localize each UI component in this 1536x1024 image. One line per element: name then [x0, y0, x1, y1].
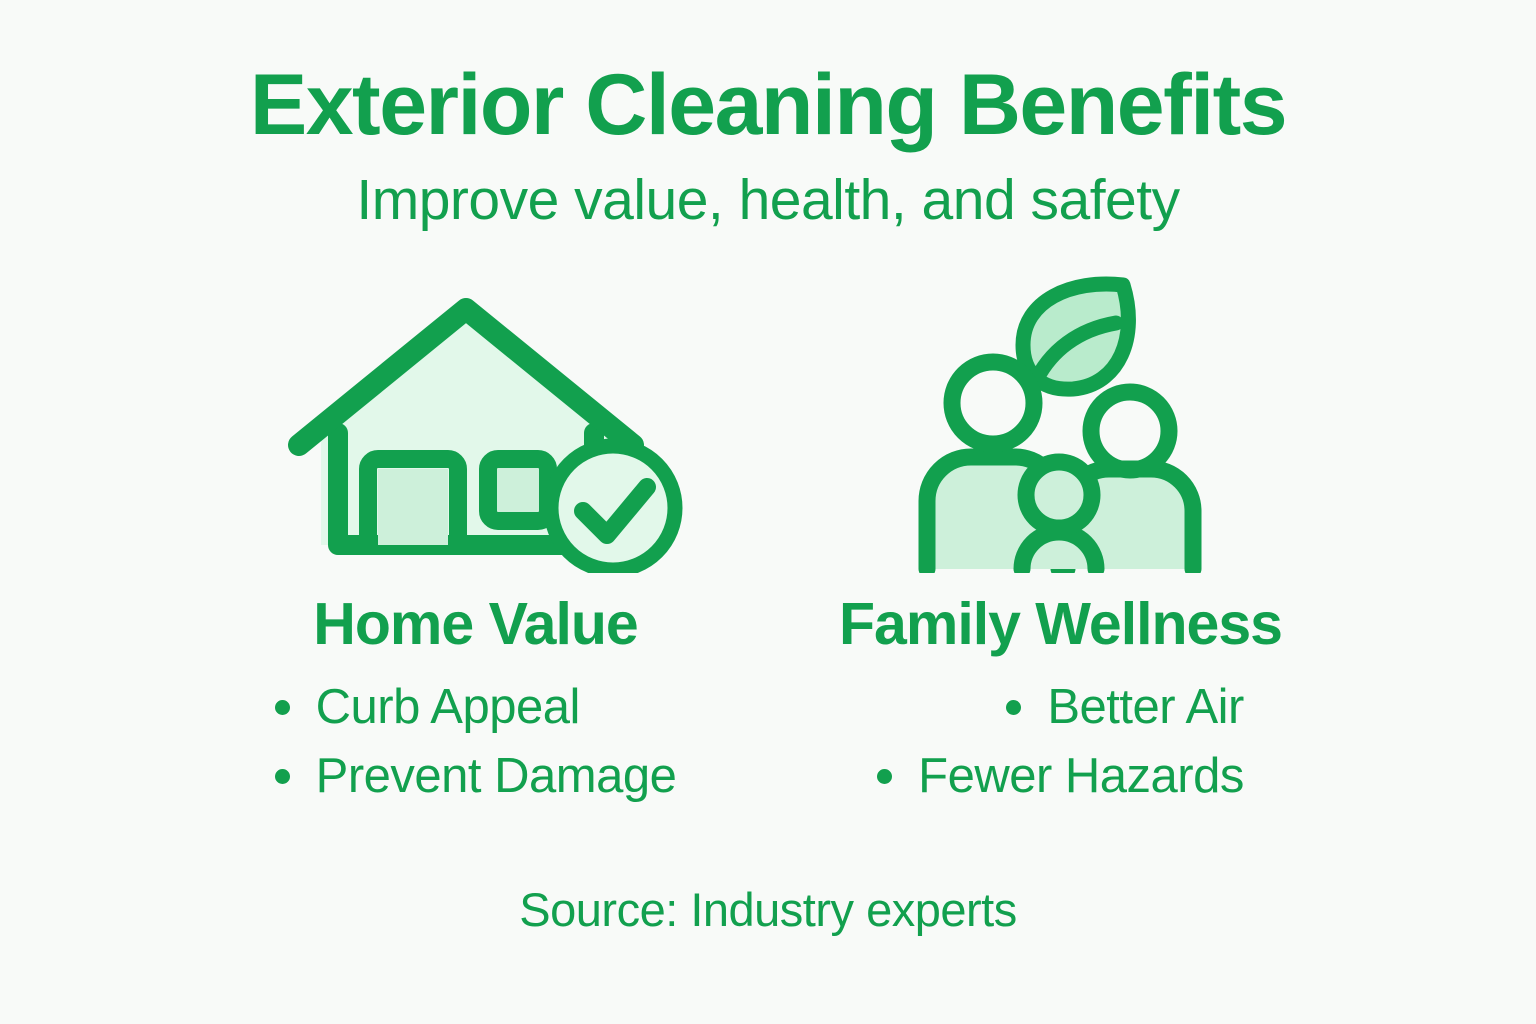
infographic-root: Exterior Cleaning Benefits Improve value… [0, 0, 1536, 1024]
bullet-dot-icon [1006, 700, 1021, 715]
list-item: Better Air [1006, 680, 1244, 735]
benefit-columns: Home Value Curb Appeal Prevent Damage [213, 273, 1323, 804]
bullet-dot-icon [275, 700, 290, 715]
list-item: Fewer Hazards [877, 749, 1244, 804]
bullet-dot-icon [877, 769, 892, 784]
benefit-list-home-value: Curb Appeal Prevent Damage [275, 680, 677, 804]
benefit-title-home-value: Home Value [313, 595, 637, 654]
list-item: Curb Appeal [275, 680, 580, 735]
house-check-icon-wrap [266, 273, 686, 573]
page-title: Exterior Cleaning Benefits [250, 62, 1286, 148]
family-leaf-icon-wrap [911, 273, 1211, 573]
list-item-label: Fewer Hazards [918, 749, 1244, 804]
benefit-list-family-wellness: Better Air Fewer Hazards [877, 680, 1244, 804]
list-item-label: Better Air [1047, 680, 1244, 735]
page-subtitle: Improve value, health, and safety [356, 172, 1179, 229]
bullet-dot-icon [275, 769, 290, 784]
list-item-label: Curb Appeal [316, 680, 580, 735]
benefit-title-family-wellness: Family Wellness [839, 595, 1282, 654]
benefit-column-home-value: Home Value Curb Appeal Prevent Damage [213, 273, 738, 804]
source-caption: Source: Industry experts [0, 882, 1536, 937]
house-check-icon [266, 273, 686, 573]
list-item: Prevent Damage [275, 749, 677, 804]
list-item-label: Prevent Damage [316, 749, 677, 804]
benefit-column-family-wellness: Family Wellness Better Air Fewer Hazards [798, 273, 1323, 804]
family-leaf-icon [911, 273, 1211, 573]
